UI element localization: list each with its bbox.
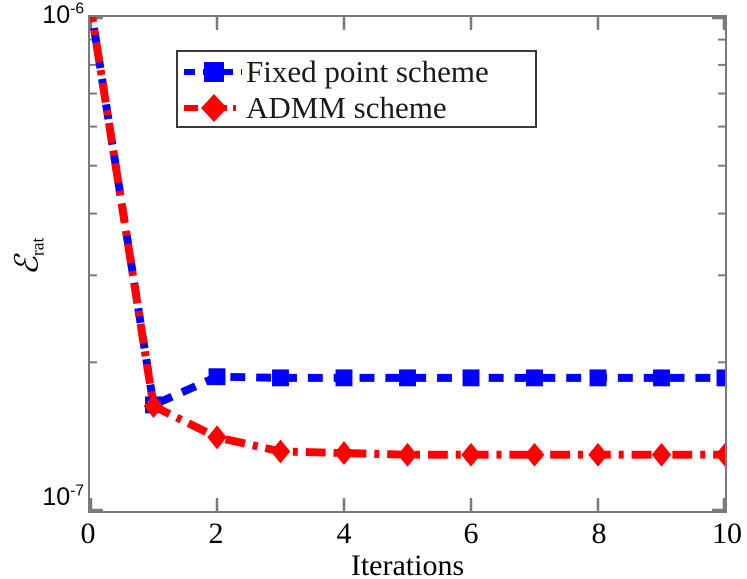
y-tick-exponent: -7	[70, 483, 84, 500]
y-tick-label-1e-7: 10-7	[42, 485, 84, 510]
y-axis-title: ℰrat	[11, 202, 44, 312]
x-tick-label-10: 10	[712, 519, 742, 549]
convergence-chart-figure: 10-6 10-7 0 2 4 6 8 10 Iterations ℰrat F…	[0, 0, 747, 579]
x-tick-label-2: 2	[209, 519, 224, 549]
y-tick-mantissa: 10	[42, 1, 70, 29]
y-tick-label-1e-6: 10-6	[42, 3, 84, 28]
x-tick-label-0: 0	[81, 519, 96, 549]
x-tick-label-8: 8	[592, 519, 607, 549]
x-tick-label-4: 4	[337, 519, 352, 549]
legend-entry-fixed-point: Fixed point scheme	[178, 53, 535, 90]
x-axis-title: Iterations	[88, 551, 727, 579]
y-axis-symbol: ℰ	[8, 256, 46, 275]
x-tick-label-6: 6	[464, 519, 479, 549]
legend-label-fixed-point: Fixed point scheme	[246, 56, 489, 87]
legend-marker-diamond-icon	[182, 91, 244, 125]
y-axis-subscript: rat	[27, 238, 47, 256]
y-tick-mantissa: 10	[42, 483, 70, 511]
legend-label-admm: ADMM scheme	[246, 92, 447, 123]
legend-entry-admm: ADMM scheme	[178, 89, 535, 126]
legend-box: Fixed point scheme ADMM scheme	[176, 50, 537, 128]
y-tick-exponent: -6	[70, 1, 84, 18]
legend-marker-square-icon	[182, 55, 244, 89]
